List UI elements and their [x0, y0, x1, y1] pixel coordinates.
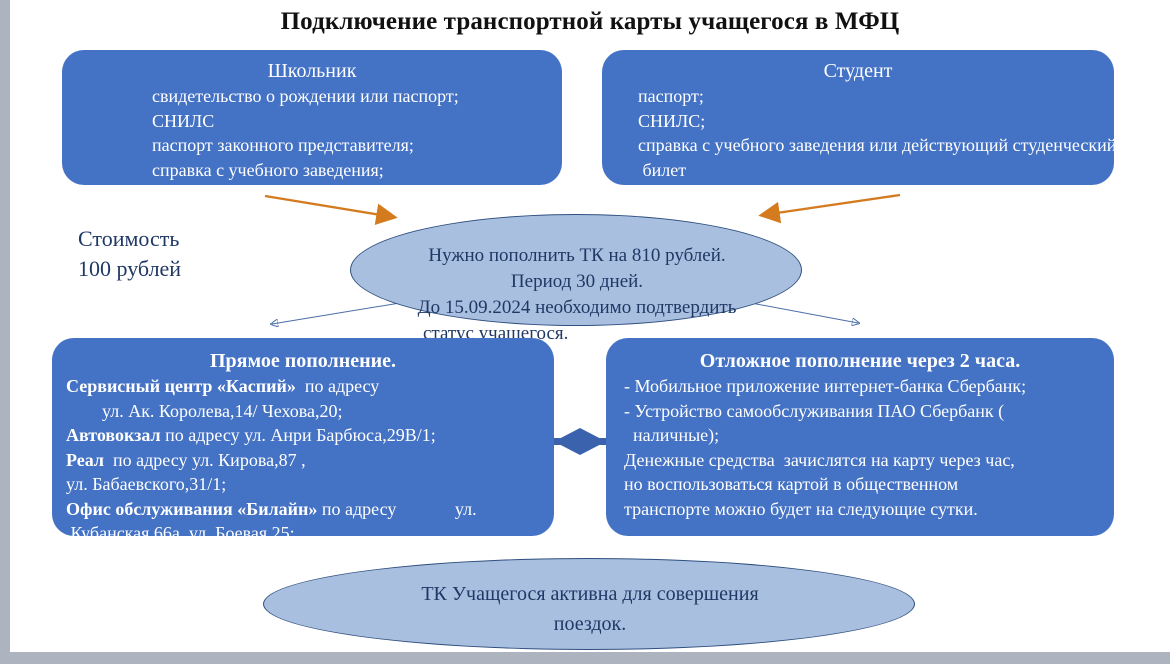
- cost-line-2: 100 рублей: [78, 254, 181, 284]
- direct-line-6: Офис обслуживания «Билайн» по адресу ул.: [66, 497, 554, 522]
- direct-line-7: Кубанская,66а, ул. Боевая,25;: [66, 521, 554, 546]
- student-line-4: билет: [638, 158, 1114, 183]
- schoolboy-line-4: справка с учебного заведения;: [152, 158, 562, 183]
- direct-topup-box: Прямое пополнение. Сервисный центр «Касп…: [52, 338, 554, 536]
- deferred-line-5: но воспользоваться картой в общественном: [624, 472, 1114, 497]
- cost-label: Стоимость 100 рублей: [78, 224, 181, 284]
- direct-line-2: ул. Ак. Королева,14/ Чехова,20;: [66, 399, 554, 424]
- active-text: ТК Учащегося активна для совершения поез…: [264, 579, 916, 639]
- arrow-schoolboy-to-topup: [265, 196, 393, 217]
- direct-line-4-bold: Реал: [66, 450, 104, 470]
- direct-line-6-bold: Офис обслуживания «Билайн»: [66, 499, 317, 519]
- direct-line-3: Автовокзал по адресу ул. Анри Барбюса,29…: [66, 423, 554, 448]
- direct-line-3-rest: по адресу ул. Анри Барбюса,29В/1;: [161, 425, 436, 445]
- student-requirements-box: Студент паспорт; СНИЛС; справка с учебно…: [602, 50, 1114, 185]
- direct-line-6-rest: по адресу ул.: [317, 499, 476, 519]
- direct-line-2-rest: ул. Ак. Королева,14/ Чехова,20;: [66, 401, 343, 421]
- direct-line-4: Реал по адресу ул. Кирова,87 ,: [66, 448, 554, 473]
- active-line-2: поездок.: [264, 609, 916, 639]
- deferred-line-4: Денежные средства зачислятся на карту че…: [624, 448, 1114, 473]
- direct-line-5: ул. Бабаевского,31/1;: [66, 472, 554, 497]
- schoolboy-line-3: паспорт законного представителя;: [152, 133, 562, 158]
- schoolboy-line-2: СНИЛС: [152, 109, 562, 134]
- arrow-student-to-topup: [763, 195, 900, 215]
- double-arrow-between-methods: [554, 428, 606, 455]
- active-line-1: ТК Учащегося активна для совершения: [264, 579, 916, 609]
- student-line-3: справка с учебного заведения или действу…: [638, 133, 1114, 158]
- schoolboy-line-1: свидетельство о рождении или паспорт;: [152, 84, 562, 109]
- card-active-ellipse: ТК Учащегося активна для совершения поез…: [263, 558, 915, 650]
- direct-line-1-bold: Сервисный центр «Каспий»: [66, 376, 296, 396]
- direct-line-4-rest: по адресу ул. Кирова,87 ,: [104, 450, 306, 470]
- deferred-heading: Отложное пополнение через 2 часа.: [606, 348, 1114, 374]
- schoolboy-requirements-box: Школьник свидетельство о рождении или па…: [62, 50, 562, 185]
- direct-heading: Прямое пополнение.: [52, 348, 554, 374]
- direct-line-7-rest: Кубанская,66а, ул. Боевая,25;: [66, 523, 295, 543]
- page-title: Подключение транспортной карты учащегося…: [10, 8, 1170, 36]
- deferred-line-1: - Мобильное приложение интернет-банка Сб…: [624, 374, 1114, 399]
- direct-line-1: Сервисный центр «Каспий» по адресу: [66, 374, 554, 399]
- deferred-body: - Мобильное приложение интернет-банка Сб…: [606, 374, 1114, 521]
- direct-line-3-bold: Автовокзал: [66, 425, 161, 445]
- direct-body: Сервисный центр «Каспий» по адресу ул. А…: [52, 374, 554, 546]
- cost-line-1: Стоимость: [78, 224, 181, 254]
- deferred-line-2: - Устройство самообслуживания ПАО Сберба…: [624, 399, 1114, 424]
- topup-line-2: Период 30 дней.: [351, 269, 803, 295]
- topup-requirement-ellipse: Нужно пополнить ТК на 810 рублей. Период…: [350, 214, 802, 326]
- topup-line-3: До 15.09.2024 необходимо подтвердить: [351, 295, 803, 321]
- student-line-1: паспорт;: [638, 84, 1114, 109]
- deferred-topup-box: Отложное пополнение через 2 часа. - Моби…: [606, 338, 1114, 536]
- slide-canvas: Подключение транспортной карты учащегося…: [10, 0, 1170, 652]
- deferred-line-3: наличные);: [624, 423, 1114, 448]
- student-line-2: СНИЛС;: [638, 109, 1114, 134]
- topup-text: Нужно пополнить ТК на 810 рублей. Период…: [351, 243, 803, 347]
- topup-line-1: Нужно пополнить ТК на 810 рублей.: [351, 243, 803, 269]
- schoolboy-heading: Школьник: [62, 58, 562, 84]
- direct-line-5-rest: ул. Бабаевского,31/1;: [66, 474, 226, 494]
- deferred-line-6: транспорте можно будет на следующие сутк…: [624, 497, 1114, 522]
- direct-line-1-rest: по адресу: [296, 376, 379, 396]
- student-heading: Студент: [602, 58, 1114, 84]
